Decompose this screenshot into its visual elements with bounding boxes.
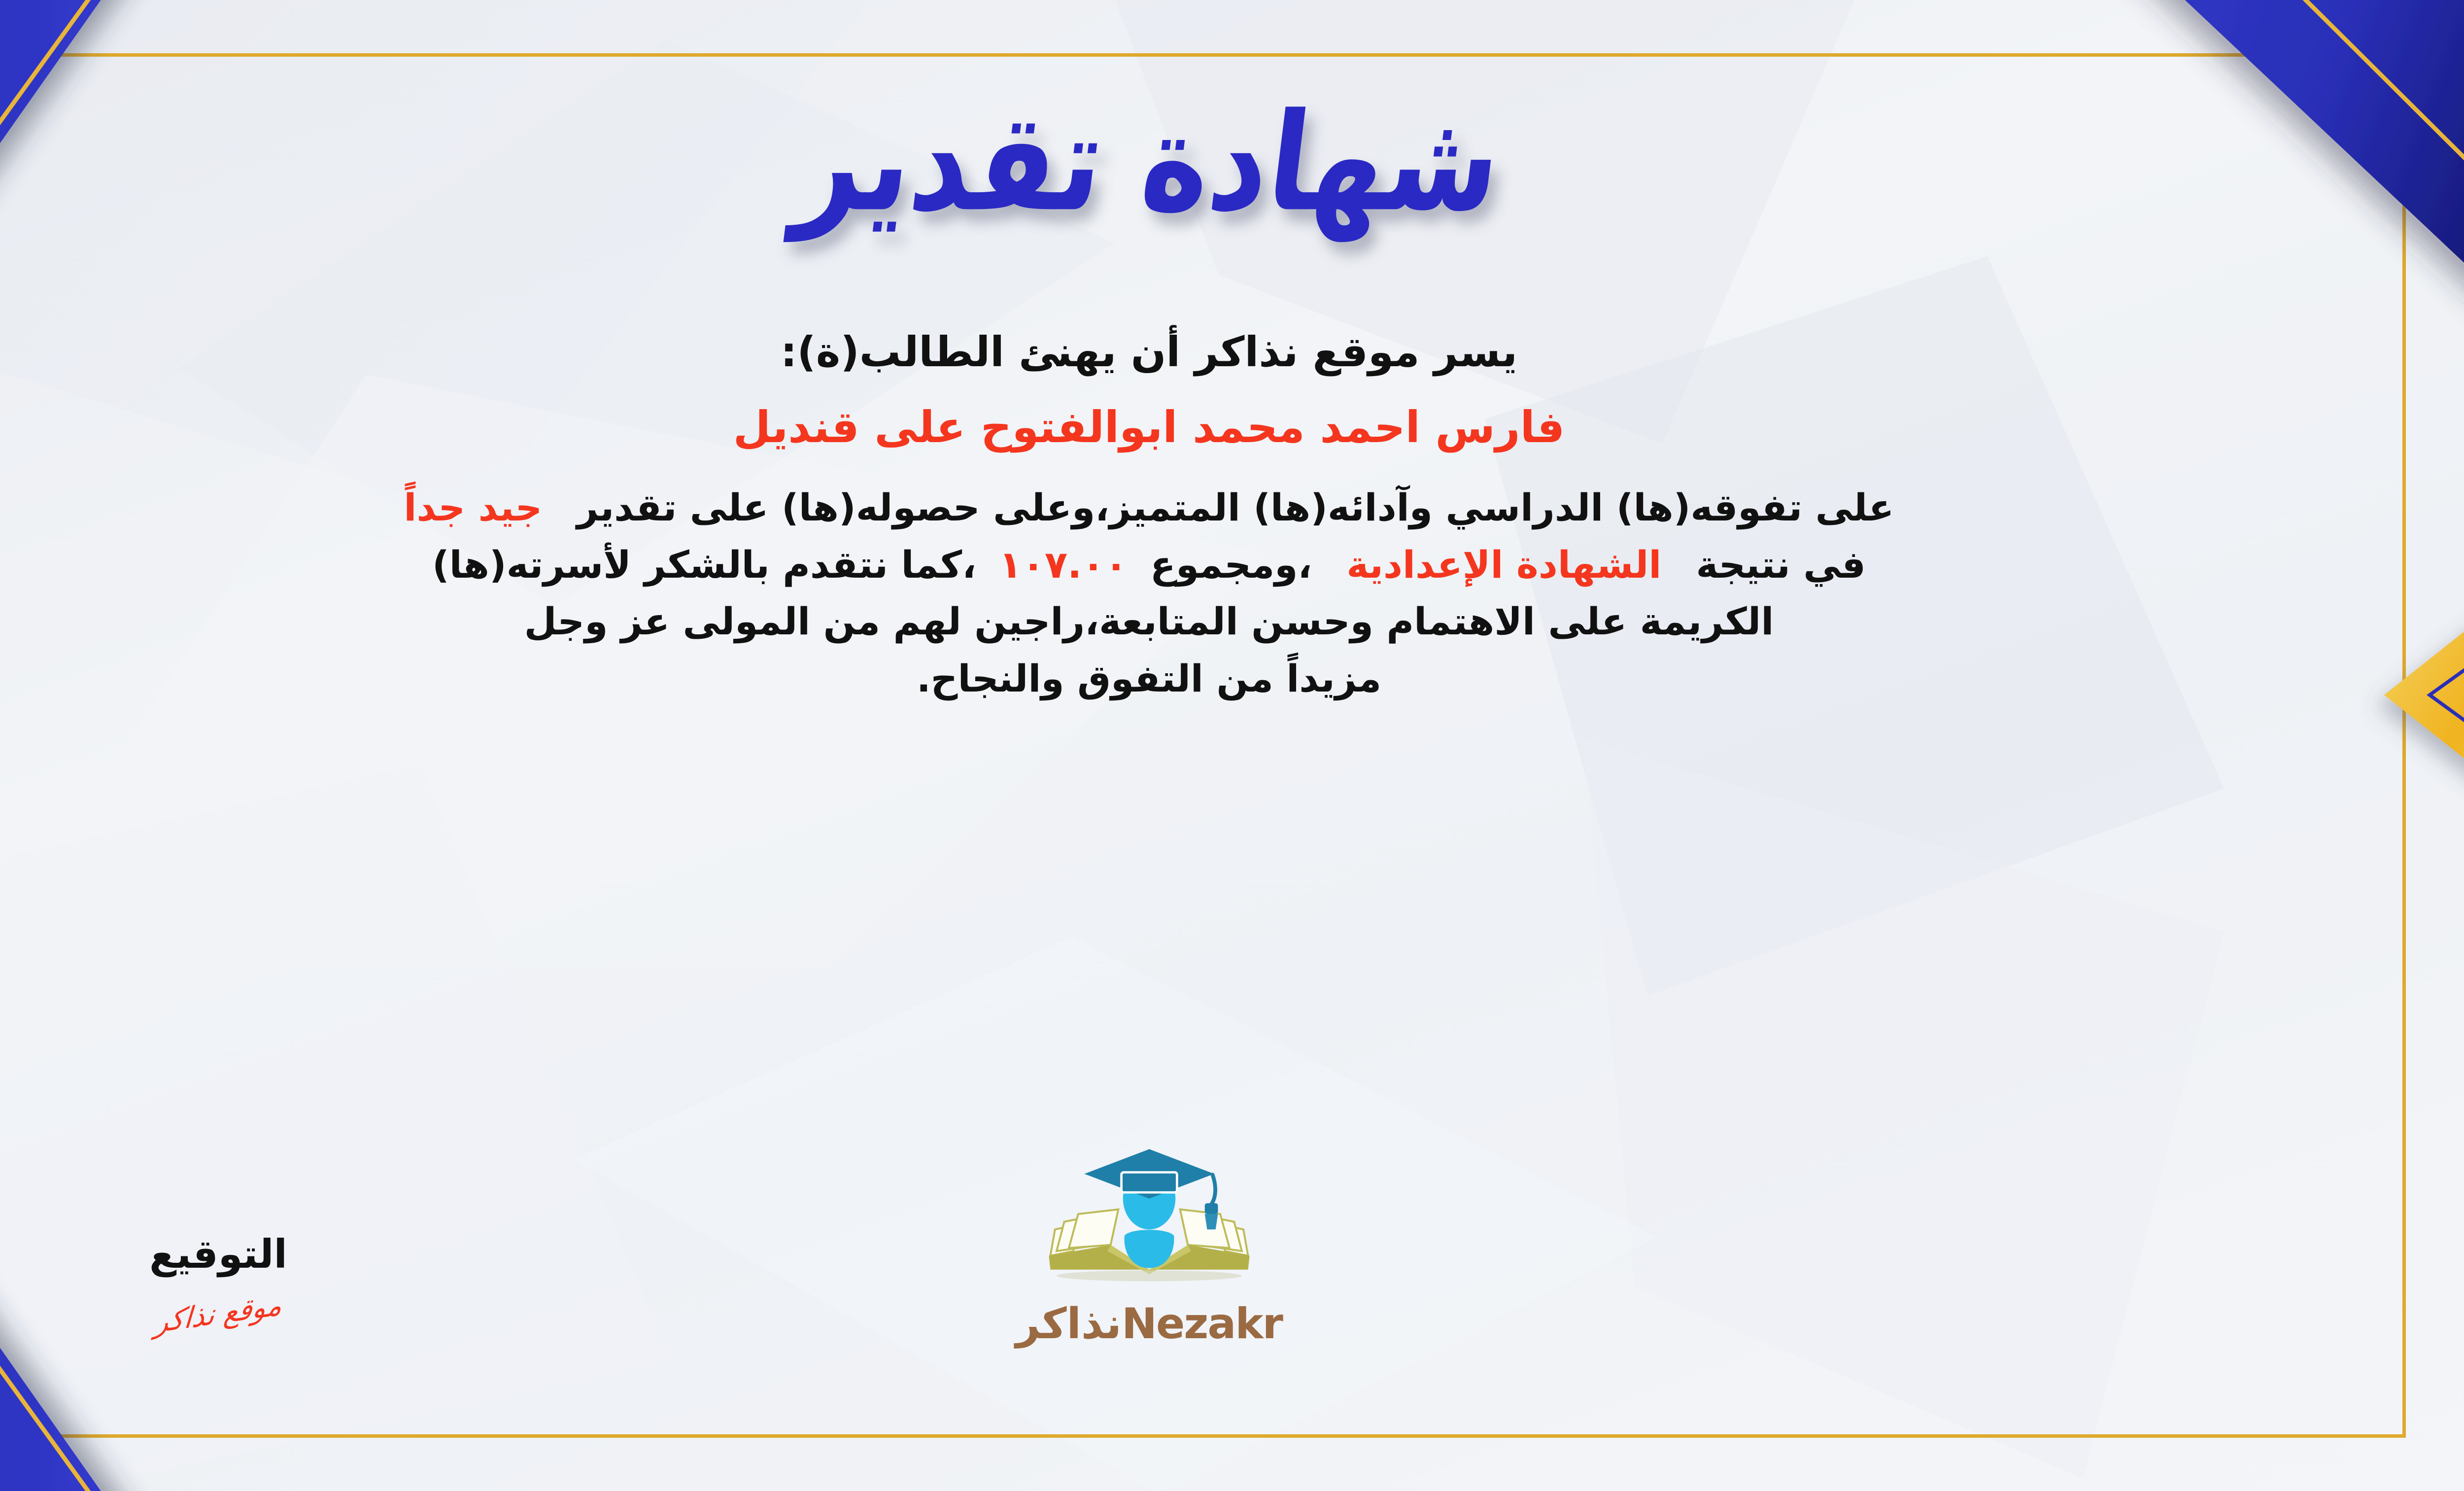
body-line-2-suffix: ،كما نتقدم بالشكر لأسرته(ها) (432, 543, 976, 587)
graduate-book-icon (1033, 1138, 1265, 1301)
logo-wordmark: Nezakrنذاكر (977, 1303, 1322, 1345)
certificate-body: على تفوقه(ها) الدراسي وآدائه(ها) المتميز… (0, 479, 2380, 707)
certificate-title-text: شهادة تقدير (789, 95, 1508, 230)
body-line-2-prefix: في نتيجة (1696, 543, 1866, 587)
body-line-1: على تفوقه(ها) الدراسي وآدائه(ها) المتميز… (0, 479, 2380, 536)
body-line-2: في نتيجةالشهادة الإعدادية،ومجموع١٠٧.٠٠،ك… (0, 536, 2380, 593)
signature-label: التوقيع (80, 1231, 356, 1277)
grade-value: جيد جداً (404, 485, 542, 529)
body-line-3: الكريمة على الاهتمام وحسن المتابعة،راجين… (0, 593, 2380, 650)
certificate-title: شهادة تقدير (0, 89, 2380, 237)
body-line-4: مزيداً من التفوق والنجاح. (0, 650, 2380, 707)
logo-word-arabic: نذاكر (1016, 1299, 1122, 1349)
certificate-page: شهادة تقدير يسر موقع نذاكر أن يهنئ الطال… (0, 0, 2464, 1491)
logo-word-latin: Nezakr (1122, 1299, 1282, 1349)
greeting-line: يسر موقع نذاكر أن يهنئ الطالب(ة): (781, 328, 1517, 376)
body-line-2-mid: ،ومجموع (1150, 543, 1312, 587)
certificate-content: شهادة تقدير يسر موقع نذاكر أن يهنئ الطال… (0, 74, 2380, 1417)
signature-block: التوقيع موقع نذاكر (80, 1231, 356, 1330)
site-logo: Nezakrنذاكر (977, 1138, 1322, 1345)
exam-name: الشهادة الإعدادية (1346, 543, 1661, 587)
certificate-footer: التوقيع موقع نذاكر (0, 1109, 2380, 1404)
total-score: ١٠٧.٠٠ (999, 543, 1128, 587)
signature-script: موقع نذاكر (154, 1287, 283, 1340)
student-name: فارس احمد محمد ابوالفتوح على قنديل (733, 402, 1565, 452)
body-line-1-text: على تفوقه(ها) الدراسي وآدائه(ها) المتميز… (577, 485, 1894, 529)
